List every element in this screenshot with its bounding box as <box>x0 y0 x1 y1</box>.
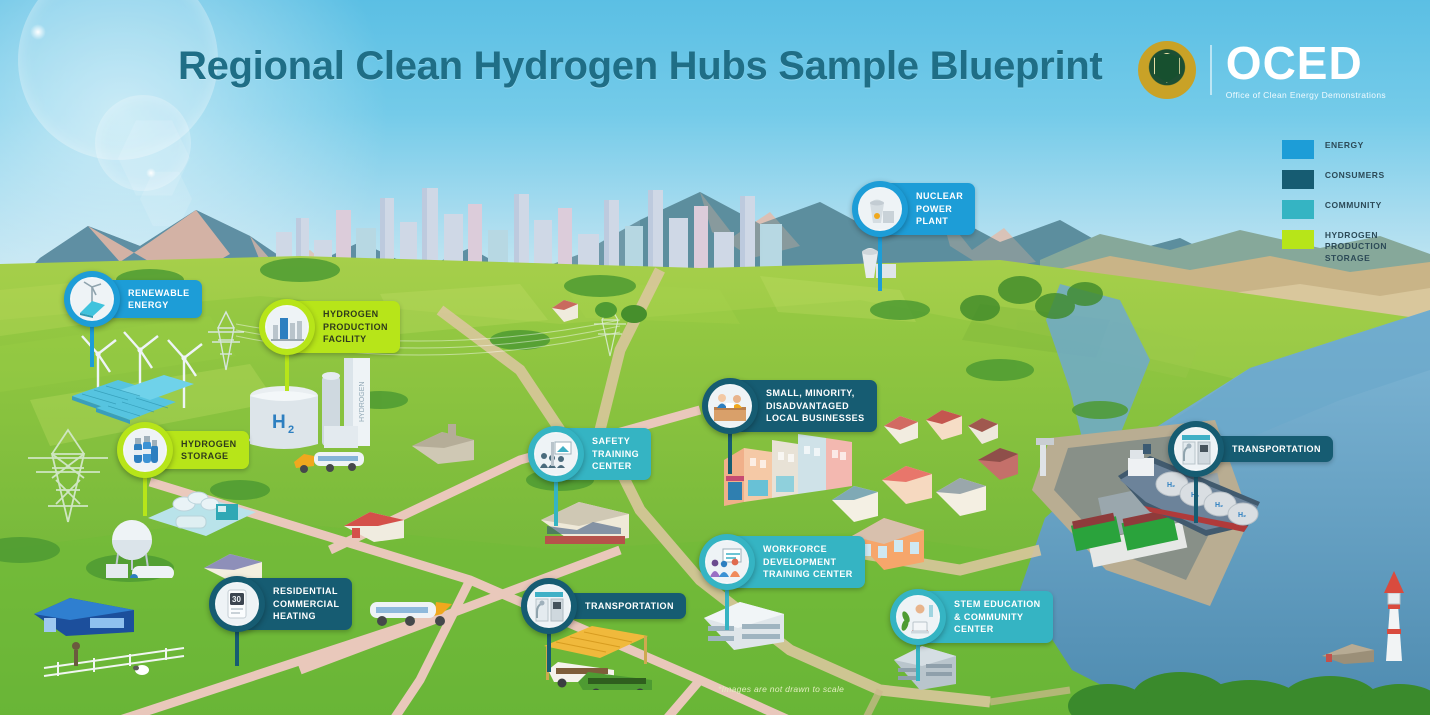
legend-label: HYDROGENPRODUCTIONSTORAGE <box>1325 230 1387 264</box>
legend-label: ENERGY <box>1325 140 1364 151</box>
callout-disc <box>528 426 584 482</box>
callout-pin-stem <box>725 584 729 630</box>
hydrogen-pump-icon <box>527 584 571 628</box>
student-laptop-icon <box>896 595 940 639</box>
callout-disc <box>699 534 755 590</box>
rural-farmhouse-far <box>548 284 658 330</box>
legend-item-energy: ENERGY <box>1282 140 1387 159</box>
coast-shed <box>1318 630 1378 666</box>
svg-text:H₂: H₂ <box>1167 482 1175 489</box>
svg-text:H₂: H₂ <box>1238 512 1246 519</box>
callout-pin-stem <box>728 428 732 474</box>
wind-turbine-solar-icon <box>70 277 114 321</box>
oced-full-name: Office of Clean Energy Demonstrations <box>1226 91 1386 100</box>
callout-workforce-development-training-center[interactable]: WORKFORCE DEVELOPMENT TRAINING CENTER <box>699 534 865 590</box>
callout-disc <box>1168 421 1224 477</box>
callout-hydrogen-storage[interactable]: HYDROGEN STORAGE <box>117 422 249 478</box>
legend: ENERGYCONSUMERSCOMMUNITYHYDROGENPRODUCTI… <box>1282 140 1387 275</box>
brand-lockup: OCED Office of Clean Energy Demonstratio… <box>1138 40 1386 100</box>
callout-pin-stem <box>554 476 558 526</box>
thermostat-icon: 30 <box>215 582 259 626</box>
callout-disc <box>521 578 577 634</box>
lens-flare-spark-3 <box>30 24 46 40</box>
callout-pin-stem <box>143 472 147 516</box>
svg-text:2: 2 <box>288 424 294 436</box>
callout-renewable-energy[interactable]: RENEWABLE ENERGY <box>64 271 202 327</box>
callout-disc: 30 <box>209 576 265 632</box>
callout-disc <box>890 589 946 645</box>
village-houses-far <box>880 396 1000 456</box>
callout-residential-commercial-heating[interactable]: RESIDENTIAL COMMERCIAL HEATING30 <box>209 576 352 632</box>
callout-transportation-road[interactable]: TRANSPORTATION <box>521 578 686 634</box>
hydrogen-plant-icon <box>265 305 309 349</box>
callout-pin-stem <box>878 231 882 291</box>
brand-divider <box>1210 45 1212 95</box>
training-icon <box>705 540 749 584</box>
callout-pin-stem <box>285 349 289 391</box>
gas-cylinders-icon <box>123 428 167 472</box>
callout-disc <box>852 181 908 237</box>
workforce-development-building <box>700 590 788 654</box>
callout-pin-stem <box>916 639 920 681</box>
cooling-tower-icon <box>858 187 902 231</box>
infographic-canvas: H₂H₂ H₂H₂ <box>0 0 1430 715</box>
callout-disc <box>259 299 315 355</box>
callout-small-minority-disadvantaged-local-businesses[interactable]: SMALL, MINORITY, DISADVANTAGED LOCAL BUS… <box>702 378 877 434</box>
legend-swatch <box>1282 230 1314 249</box>
fence-and-sheep <box>34 628 194 688</box>
page-title: Regional Clean Hydrogen Hubs Sample Blue… <box>178 44 1102 89</box>
callout-pin-stem <box>235 626 239 666</box>
shopkeeper-icon <box>708 384 752 428</box>
callout-safety-training-center[interactable]: SAFETY TRAINING CENTER <box>528 426 651 482</box>
stem-center-building <box>890 638 960 694</box>
legend-item-consumers: CONSUMERS <box>1282 170 1387 189</box>
callout-hydrogen-production-facility[interactable]: HYDROGEN PRODUCTION FACILITY <box>259 299 400 355</box>
svg-text:H₂: H₂ <box>1215 502 1223 509</box>
hydrogen-sphere-tank <box>100 508 200 578</box>
callout-pin-stem <box>547 628 551 672</box>
legend-item-hydrogen-production-storage: HYDROGENPRODUCTIONSTORAGE <box>1282 230 1387 264</box>
callout-pin-stem <box>90 321 94 367</box>
industrial-building <box>408 418 478 466</box>
callout-nuclear-power-plant[interactable]: NUCLEAR POWER PLANT <box>852 181 975 237</box>
legend-label: COMMUNITY <box>1325 200 1382 211</box>
safety-training-building <box>535 490 635 550</box>
doe-seal-icon <box>1138 41 1196 99</box>
callout-pin-stem <box>1194 471 1198 523</box>
nuclear-plant-building <box>848 230 904 286</box>
callout-stem-education-community-center[interactable]: STEM EDUCATION & COMMUNITY CENTER <box>890 589 1053 645</box>
farm-barn <box>340 500 410 544</box>
svg-text:HYDROGEN: HYDROGEN <box>359 382 366 422</box>
oced-acronym: OCED <box>1226 40 1386 86</box>
legend-swatch <box>1282 200 1314 219</box>
classroom-icon <box>534 432 578 476</box>
legend-label: CONSUMERS <box>1325 170 1385 181</box>
callout-disc <box>702 378 758 434</box>
callout-disc <box>64 271 120 327</box>
callout-disc <box>117 422 173 478</box>
hydrogen-tanker-truck-2 <box>360 592 460 634</box>
legend-swatch <box>1282 170 1314 189</box>
legend-swatch <box>1282 140 1314 159</box>
legend-item-community: COMMUNITY <box>1282 200 1387 219</box>
hydrogen-tanker-truck-1 <box>288 444 370 476</box>
callout-transportation-port[interactable]: TRANSPORTATION <box>1168 421 1333 477</box>
hydrogen-pump-icon <box>1174 427 1218 471</box>
svg-text:H: H <box>272 412 286 433</box>
svg-text:30: 30 <box>232 595 241 604</box>
footnote-scale-disclaimer: *Images are not drawn to scale <box>718 684 844 694</box>
